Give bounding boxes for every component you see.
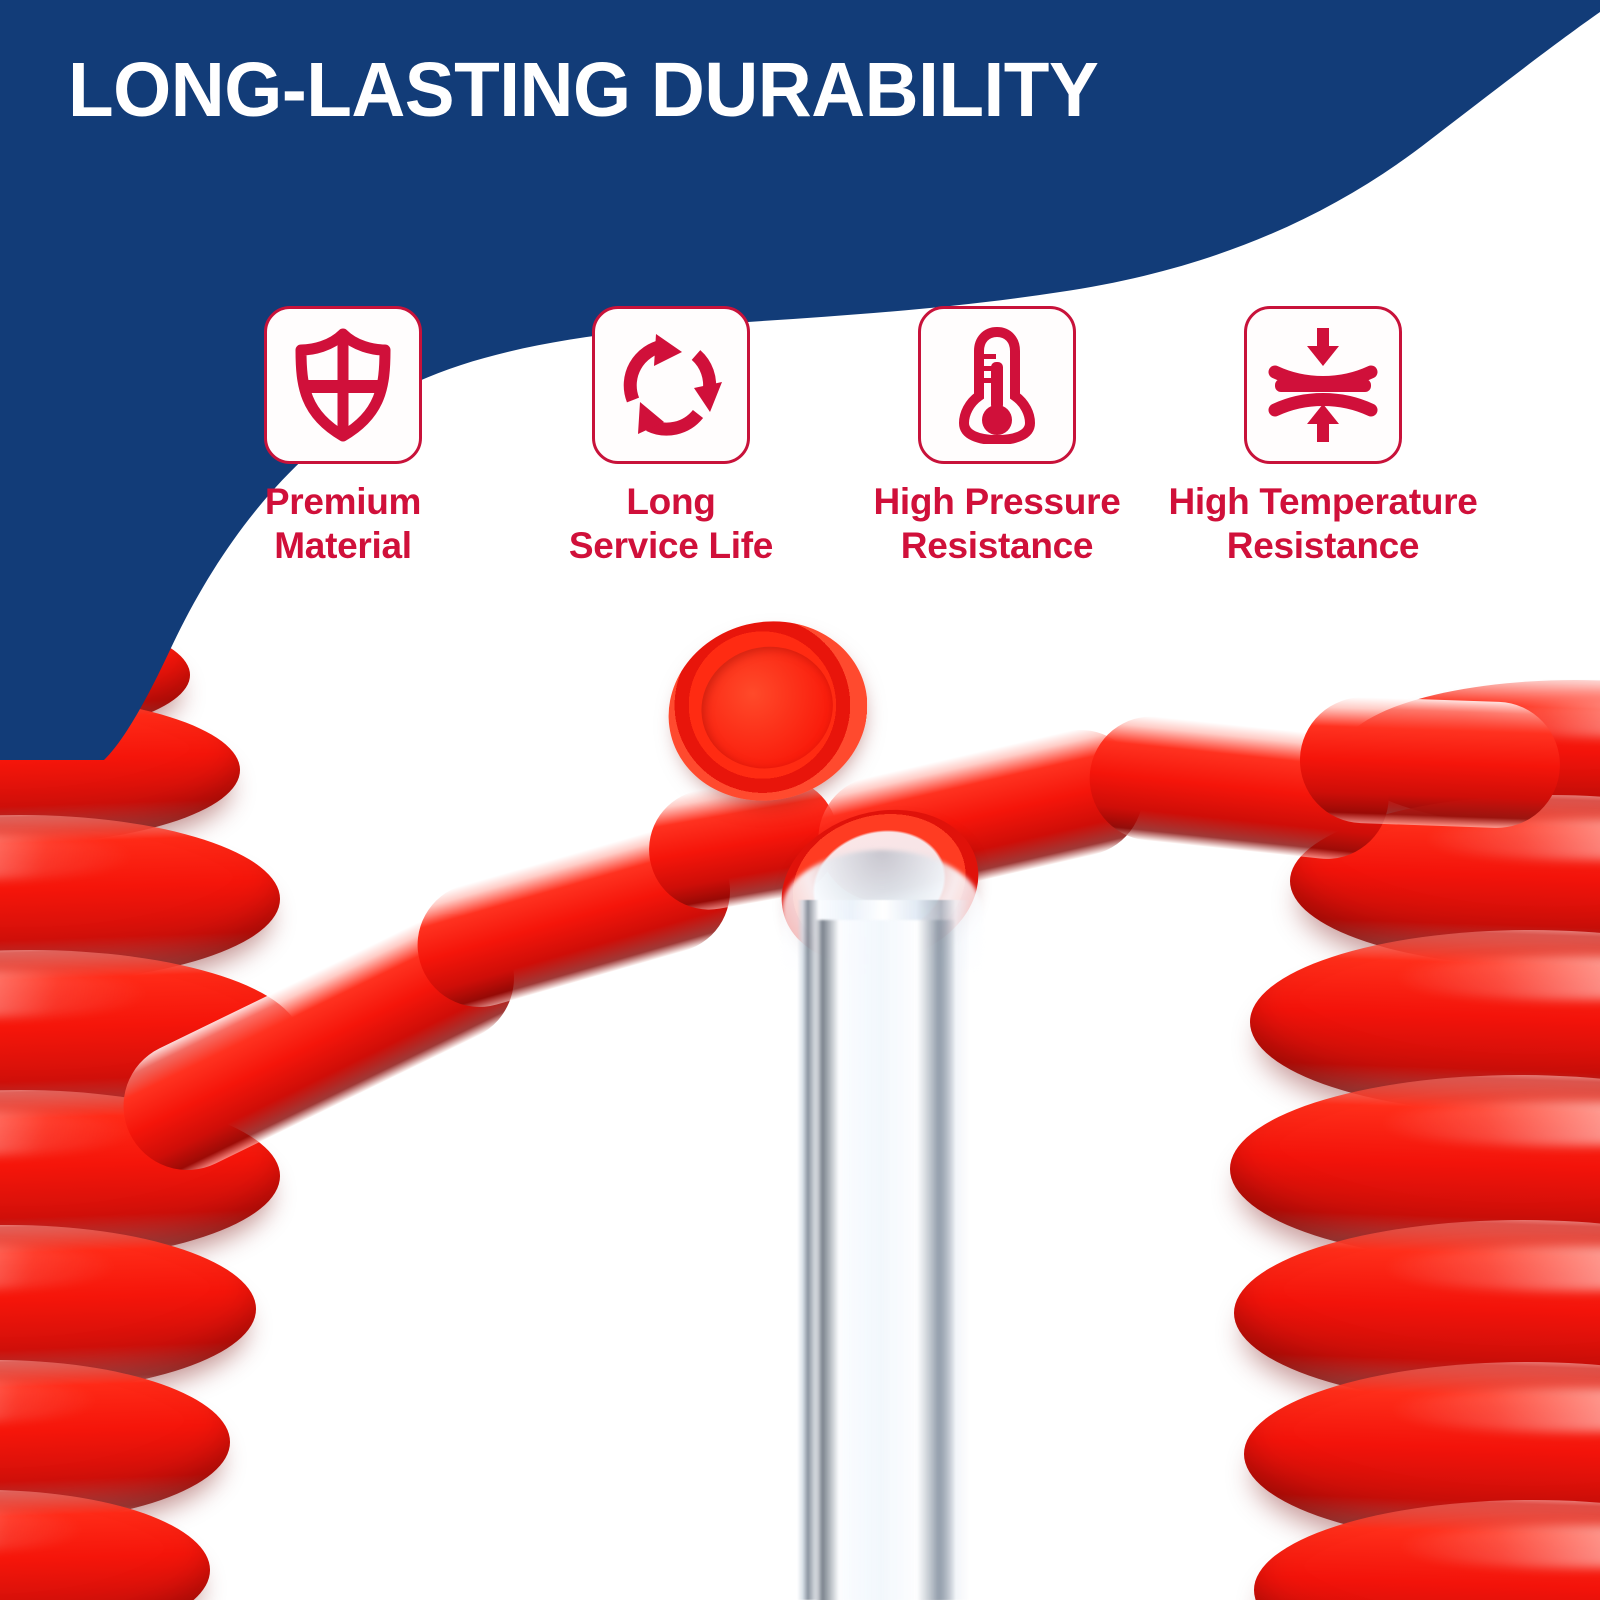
feature-label: High Temperature Resistance: [1168, 480, 1477, 567]
highlight: [0, 1509, 84, 1551]
product-photo: ance with ASTM PEX 20181218 PEX 20181218…: [0, 600, 1600, 1600]
highlight: [1384, 1246, 1600, 1291]
thermometer-icon: [959, 326, 1035, 444]
feature-label-line2: Resistance: [874, 524, 1121, 568]
coil-ring: [1254, 1500, 1600, 1600]
feature-row: Premium Material Long: [180, 306, 1520, 606]
page-title: LONG-LASTING DURABILITY: [68, 52, 1098, 129]
feature-label: Long Service Life: [569, 480, 773, 567]
highlight: [1399, 1525, 1600, 1568]
icon-box: [1244, 306, 1402, 464]
highlight: [0, 835, 134, 879]
highlight: [1396, 956, 1600, 1000]
highlight: [1381, 1101, 1600, 1146]
feature-label: High Pressure Resistance: [874, 480, 1121, 567]
feature-item-long-service-life[interactable]: Long Service Life: [506, 306, 836, 567]
recycle-arrows-icon: [616, 330, 726, 440]
highlight: [0, 626, 70, 660]
highlight: [0, 1111, 134, 1156]
feature-label-line2: Material: [265, 524, 421, 568]
coil-ring: [0, 1490, 210, 1600]
hose-arm-right-join: [1298, 695, 1562, 830]
highlight: [0, 1245, 117, 1289]
feature-label-line2: Service Life: [569, 524, 773, 568]
highlight: [1391, 1388, 1600, 1432]
water-stream-inner: [806, 920, 956, 1600]
feature-label-line1: High Pressure: [874, 481, 1121, 522]
icon-box: [592, 306, 750, 464]
feature-label-line2: Resistance: [1168, 524, 1477, 568]
highlight: [0, 971, 149, 1017]
feature-label-line1: Premium: [265, 481, 421, 522]
compression-arrows-icon: [1267, 326, 1379, 444]
highlight: [0, 713, 106, 752]
infographic-canvas: ance with ASTM PEX 20181218 PEX 20181218…: [0, 0, 1600, 1600]
feature-item-high-temperature-resistance[interactable]: High Temperature Resistance: [1158, 306, 1488, 567]
feature-item-high-pressure-resistance[interactable]: High Pressure Resistance: [836, 306, 1158, 567]
hose-bore: [688, 633, 845, 782]
shield-icon: [291, 328, 395, 442]
feature-label-line1: Long: [626, 481, 715, 522]
icon-box: [918, 306, 1076, 464]
feature-label-line1: High Temperature: [1168, 481, 1477, 522]
feature-item-premium-material[interactable]: Premium Material: [180, 306, 506, 567]
feature-label: Premium Material: [265, 480, 421, 567]
highlight: [0, 1380, 98, 1423]
icon-box: [264, 306, 422, 464]
